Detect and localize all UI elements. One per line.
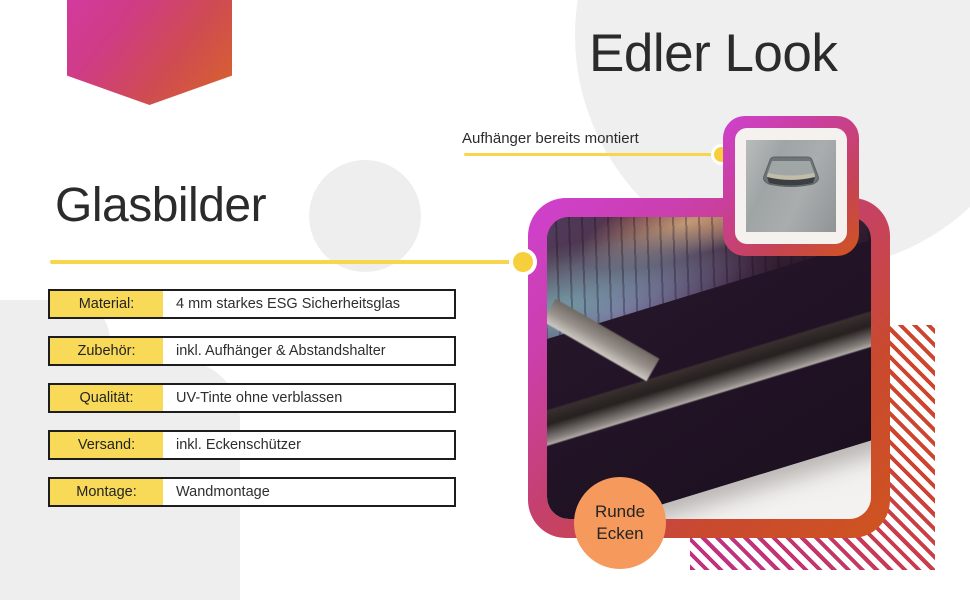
page-title-right: Edler Look — [589, 23, 837, 84]
spec-value: Wandmontage — [163, 479, 454, 505]
shield-banner-icon — [67, 0, 232, 105]
connector-dot-icon — [513, 252, 533, 272]
hanger-detail-inset — [723, 116, 859, 256]
spec-label: Montage: — [50, 479, 163, 505]
table-row: Versand: inkl. Eckenschützer — [48, 430, 456, 460]
spec-value: UV-Tinte ohne verblassen — [163, 385, 454, 411]
badge-runde-ecken: Runde Ecken — [574, 477, 666, 569]
spec-label: Qualität: — [50, 385, 163, 411]
table-row: Qualität: UV-Tinte ohne verblassen — [48, 383, 456, 413]
badge-line-2: Ecken — [596, 523, 643, 545]
spec-table: Material: 4 mm starkes ESG Sicherheitsgl… — [48, 289, 456, 524]
infographic-canvas: Edler Look Glasbilder Runde Ecken Aufhän… — [0, 0, 970, 600]
hanger-annotation-label: Aufhänger bereits montiert — [462, 130, 639, 147]
background-circle-middle — [309, 160, 421, 272]
spec-label: Material: — [50, 291, 163, 317]
spec-label: Zubehör: — [50, 338, 163, 364]
spec-value: inkl. Aufhänger & Abstandshalter — [163, 338, 454, 364]
spec-value: 4 mm starkes ESG Sicherheitsglas — [163, 291, 454, 317]
page-title-left: Glasbilder — [55, 178, 266, 233]
spec-connector-line — [50, 260, 522, 264]
table-row: Material: 4 mm starkes ESG Sicherheitsgl… — [48, 289, 456, 319]
badge-line-1: Runde — [595, 501, 645, 523]
spec-value: inkl. Eckenschützer — [163, 432, 454, 458]
table-row: Montage: Wandmontage — [48, 477, 456, 507]
wall-hanger-plate — [746, 140, 836, 232]
spec-label: Versand: — [50, 432, 163, 458]
hanger-annotation-line — [464, 153, 718, 156]
wall-hanger-icon — [760, 156, 822, 190]
hanger-detail-inner-frame — [735, 128, 847, 244]
product-photo — [547, 217, 871, 519]
table-row: Zubehör: inkl. Aufhänger & Abstandshalte… — [48, 336, 456, 366]
